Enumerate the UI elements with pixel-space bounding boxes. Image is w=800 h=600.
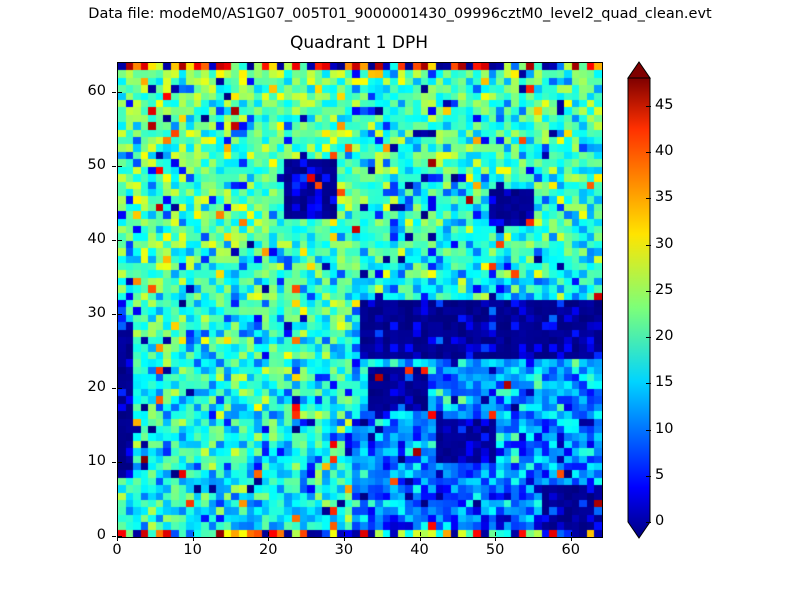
y-tick-label: 0: [62, 527, 106, 543]
colorbar-tick-mark: [646, 476, 651, 477]
y-tick-mark-inner: [118, 92, 122, 93]
y-tick-mark: [112, 92, 116, 93]
colorbar-tick-mark: [646, 337, 651, 338]
x-tick-mark: [420, 537, 421, 541]
colorbar-tick-mark: [646, 245, 651, 246]
colorbar-tick-mark: [646, 106, 651, 107]
dph-heatmap-image[interactable]: [118, 63, 602, 537]
x-tick-mark-inner: [268, 532, 269, 536]
x-tick-label: 0: [87, 542, 147, 558]
y-tick-mark: [112, 536, 116, 537]
matplotlib-figure: Data file: modeM0/AS1G07_005T01_90000014…: [0, 0, 800, 600]
y-tick-mark-inner: [118, 462, 122, 463]
colorbar-tick-label: 0: [655, 513, 664, 529]
colorbar-tick-label: 40: [655, 143, 673, 159]
x-tick-mark: [117, 537, 118, 541]
y-tick-mark-inner: [118, 388, 122, 389]
y-tick-mark: [112, 166, 116, 167]
colorbar-tick-mark: [646, 198, 651, 199]
x-tick-mark-inner: [495, 532, 496, 536]
data-file-suptitle: Data file: modeM0/AS1G07_005T01_90000014…: [0, 6, 800, 22]
colorbar-tick-label: 10: [655, 421, 673, 437]
colorbar-tick-label: 35: [655, 189, 673, 205]
colorbar-tick-mark: [646, 522, 651, 523]
x-tick-label: 40: [390, 542, 450, 558]
colorbar-tick-label: 15: [655, 374, 673, 390]
y-tick-label: 20: [62, 379, 106, 395]
x-tick-mark-inner: [571, 532, 572, 536]
x-tick-label: 50: [465, 542, 525, 558]
x-tick-mark: [268, 537, 269, 541]
colorbar-tick-mark: [646, 152, 651, 153]
y-tick-mark: [112, 240, 116, 241]
x-tick-mark: [571, 537, 572, 541]
colorbar-tick-mark: [646, 383, 651, 384]
x-tick-label: 60: [541, 542, 601, 558]
x-tick-mark-inner: [344, 532, 345, 536]
colorbar-tick-mark: [646, 430, 651, 431]
y-tick-label: 50: [62, 157, 106, 173]
x-tick-mark: [344, 537, 345, 541]
colorbar[interactable]: [626, 60, 652, 540]
y-tick-mark: [112, 462, 116, 463]
y-tick-label: 60: [62, 83, 106, 99]
x-tick-label: 30: [314, 542, 374, 558]
x-tick-label: 20: [238, 542, 298, 558]
x-tick-mark: [193, 537, 194, 541]
y-tick-mark-inner: [118, 536, 122, 537]
x-tick-mark-inner: [193, 532, 194, 536]
y-tick-label: 10: [62, 453, 106, 469]
colorbar-gradient: [626, 60, 652, 540]
y-tick-label: 30: [62, 305, 106, 321]
x-tick-mark-inner: [420, 532, 421, 536]
y-tick-mark-inner: [118, 240, 122, 241]
colorbar-tick-label: 20: [655, 328, 673, 344]
colorbar-tick-label: 45: [655, 97, 673, 113]
page-title: Quadrant 1 DPH: [117, 33, 601, 53]
x-tick-label: 10: [163, 542, 223, 558]
colorbar-tick-label: 25: [655, 282, 673, 298]
y-tick-label: 40: [62, 231, 106, 247]
y-tick-mark: [112, 388, 116, 389]
heatmap-axes[interactable]: [117, 62, 603, 538]
colorbar-tick-label: 30: [655, 236, 673, 252]
colorbar-tick-label: 5: [655, 467, 664, 483]
y-tick-mark: [112, 314, 116, 315]
y-tick-mark-inner: [118, 166, 122, 167]
y-tick-mark-inner: [118, 314, 122, 315]
x-tick-mark: [495, 537, 496, 541]
colorbar-tick-mark: [646, 291, 651, 292]
